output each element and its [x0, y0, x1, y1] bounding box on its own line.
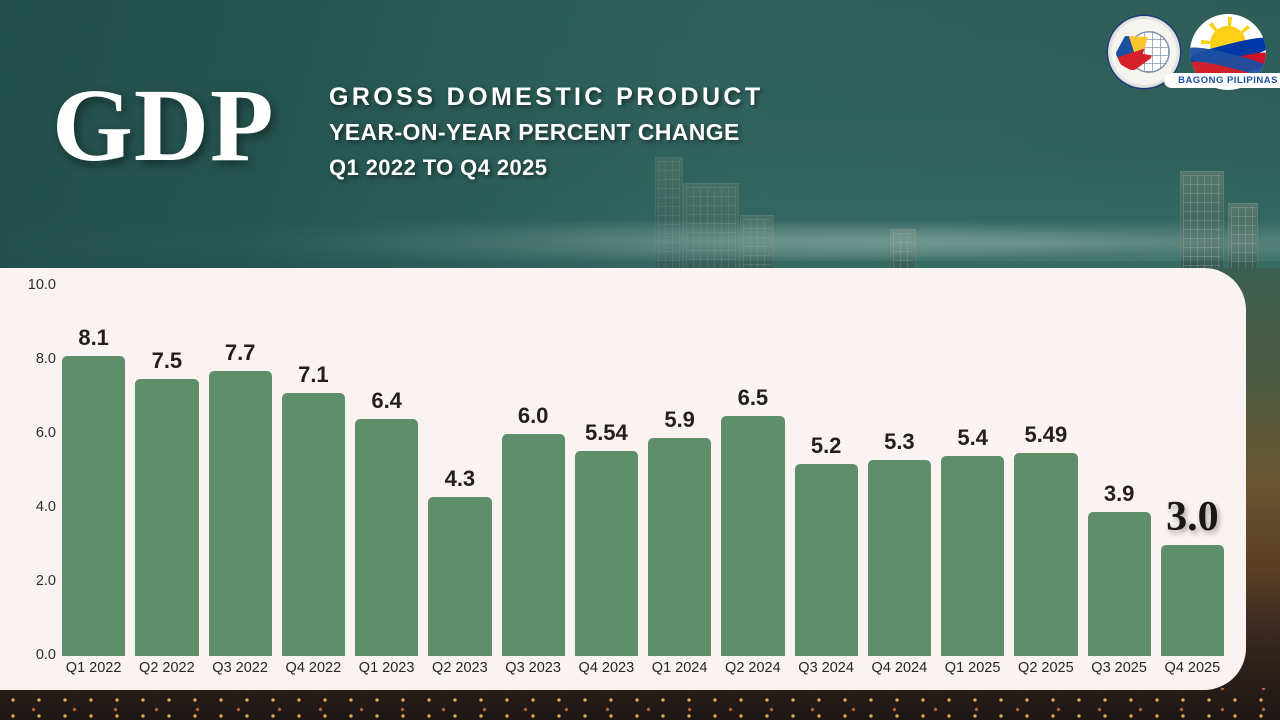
bar[interactable] — [502, 434, 565, 656]
y-tick-label: 0.0 — [0, 647, 56, 663]
bar[interactable] — [941, 456, 1004, 656]
x-tick-label: Q4 2023 — [575, 660, 638, 676]
bar-column[interactable]: 3.0 — [1161, 286, 1224, 656]
bar[interactable] — [1161, 545, 1224, 656]
bar-value-label: 5.54 — [585, 420, 628, 446]
bar-column[interactable]: 4.3 — [428, 286, 491, 656]
bar[interactable] — [1088, 512, 1151, 656]
bar-value-label: 6.0 — [518, 403, 549, 429]
bar-series: 8.17.57.77.16.44.36.05.545.96.55.25.35.4… — [62, 286, 1224, 656]
bar[interactable] — [62, 356, 125, 656]
title-line-2: YEAR-ON-YEAR PERCENT CHANGE — [329, 115, 764, 150]
bar[interactable] — [868, 460, 931, 656]
bar[interactable] — [282, 393, 345, 656]
gdp-infographic: GDP GROSS DOMESTIC PRODUCT YEAR-ON-YEAR … — [0, 0, 1280, 720]
bar-value-label: 6.5 — [738, 385, 769, 411]
x-tick-label: Q4 2022 — [282, 660, 345, 676]
bar-column[interactable]: 5.3 — [868, 286, 931, 656]
title-line-1: GROSS DOMESTIC PRODUCT — [329, 80, 764, 115]
bar-value-label: 8.1 — [78, 325, 109, 351]
x-tick-label: Q1 2023 — [355, 660, 418, 676]
bar-column[interactable]: 7.7 — [209, 286, 272, 656]
x-tick-label: Q1 2025 — [941, 660, 1004, 676]
y-tick-label: 4.0 — [0, 499, 56, 515]
plot-area: 8.17.57.77.16.44.36.05.545.96.55.25.35.4… — [62, 286, 1224, 656]
bar-column[interactable]: 6.4 — [355, 286, 418, 656]
bar-value-label: 5.2 — [811, 433, 842, 459]
x-tick-label: Q2 2025 — [1014, 660, 1077, 676]
bar-column[interactable]: 7.1 — [282, 286, 345, 656]
bar-value-label: 5.9 — [664, 407, 695, 433]
title-block: GROSS DOMESTIC PRODUCT YEAR-ON-YEAR PERC… — [329, 80, 764, 186]
bar[interactable] — [721, 416, 784, 657]
bar-column[interactable]: 3.9 — [1088, 286, 1151, 656]
bar[interactable] — [1014, 453, 1077, 656]
x-tick-label: Q3 2024 — [795, 660, 858, 676]
city-lights — [0, 688, 1280, 720]
bar-value-label: 5.3 — [884, 429, 915, 455]
bagong-pilipinas-logo: BAGONG PILIPINAS — [1190, 14, 1266, 90]
y-tick-label: 2.0 — [0, 573, 56, 589]
y-tick-label: 8.0 — [0, 351, 56, 367]
bar[interactable] — [575, 451, 638, 656]
bar-value-label: 6.4 — [371, 388, 402, 414]
bar-column[interactable]: 5.4 — [941, 286, 1004, 656]
bar-value-label: 4.3 — [445, 466, 476, 492]
bar-column[interactable]: 8.1 — [62, 286, 125, 656]
y-tick-label: 6.0 — [0, 425, 56, 441]
bar-value-label: 7.5 — [152, 348, 183, 374]
title-line-3: Q1 2022 TO Q4 2025 — [329, 150, 764, 186]
bar-value-label: 3.9 — [1104, 481, 1135, 507]
header-band: GDP GROSS DOMESTIC PRODUCT YEAR-ON-YEAR … — [0, 0, 1280, 270]
bar-column[interactable]: 5.49 — [1014, 286, 1077, 656]
x-tick-label: Q4 2024 — [868, 660, 931, 676]
x-tick-label: Q2 2023 — [428, 660, 491, 676]
x-tick-label: Q4 2025 — [1161, 660, 1224, 676]
x-tick-label: Q1 2024 — [648, 660, 711, 676]
x-tick-label: Q3 2025 — [1088, 660, 1151, 676]
x-tick-label: Q2 2024 — [721, 660, 784, 676]
bar[interactable] — [795, 464, 858, 656]
bar-column[interactable]: 6.5 — [721, 286, 784, 656]
bar-column[interactable]: 6.0 — [502, 286, 565, 656]
bar-value-label: 7.7 — [225, 340, 256, 366]
bagong-pilipinas-label: BAGONG PILIPINAS — [1164, 73, 1280, 88]
bar[interactable] — [428, 497, 491, 656]
bar-column[interactable]: 5.54 — [575, 286, 638, 656]
bar[interactable] — [355, 419, 418, 656]
bar[interactable] — [209, 371, 272, 656]
gdp-wordmark: GDP — [52, 74, 275, 178]
x-tick-label: Q3 2022 — [209, 660, 272, 676]
bar-value-label: 3.0 — [1166, 493, 1219, 541]
bar[interactable] — [648, 438, 711, 656]
chart-panel: 0.02.04.06.08.010.0 8.17.57.77.16.44.36.… — [0, 268, 1246, 690]
bar-column[interactable]: 7.5 — [135, 286, 198, 656]
bar-column[interactable]: 5.2 — [795, 286, 858, 656]
bar-value-label: 7.1 — [298, 362, 329, 388]
x-tick-label: Q2 2022 — [135, 660, 198, 676]
bar[interactable] — [135, 379, 198, 657]
x-tick-label: Q3 2023 — [502, 660, 565, 676]
y-tick-label: 10.0 — [14, 277, 56, 293]
x-tick-label: Q1 2022 — [62, 660, 125, 676]
bar-value-label: 5.4 — [957, 425, 988, 451]
x-axis: Q1 2022Q2 2022Q3 2022Q4 2022Q1 2023Q2 20… — [62, 660, 1224, 676]
bar-column[interactable]: 5.9 — [648, 286, 711, 656]
logo-group: BAGONG PILIPINAS — [1106, 14, 1266, 90]
bar-value-label: 5.49 — [1024, 422, 1067, 448]
